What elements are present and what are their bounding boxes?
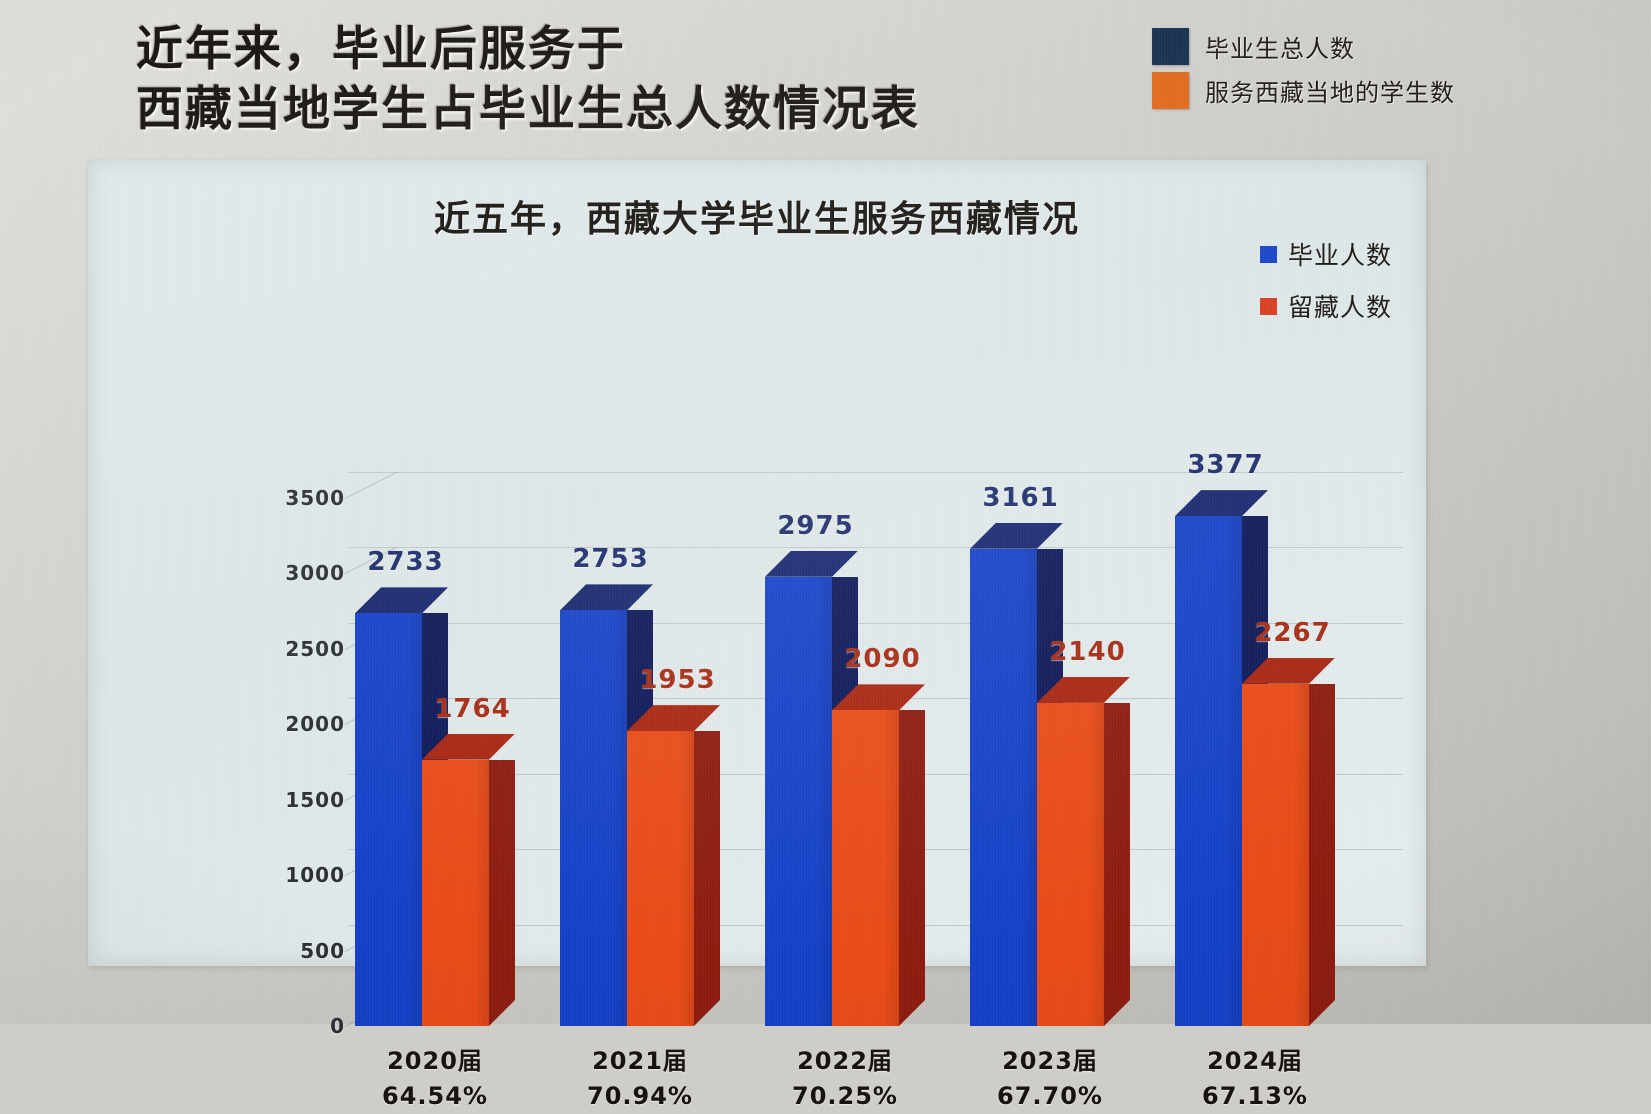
bar-value-label: 2140 xyxy=(1041,637,1134,667)
bar-side-face xyxy=(694,731,720,1026)
bar-front-face xyxy=(832,710,899,1026)
legend-label: 毕业生总人数 xyxy=(1205,29,1355,64)
bar-front-face xyxy=(970,549,1037,1026)
bar-value-label: 2267 xyxy=(1246,618,1339,648)
legend-swatch-navy xyxy=(1152,28,1189,65)
bar-stayed[interactable] xyxy=(422,760,489,1026)
bar-front-face xyxy=(765,577,832,1026)
bar-graduates[interactable] xyxy=(1175,516,1242,1026)
chart-legend-label: 毕业人数 xyxy=(1288,236,1392,272)
chart-title: 近五年，西藏大学毕业生服务西藏情况 xyxy=(88,190,1426,242)
bar-top-face xyxy=(970,523,1063,549)
bar-value-label: 3377 xyxy=(1179,450,1272,480)
x-axis-category-label: 2023届 67.70% xyxy=(942,1044,1158,1114)
y-axis-tick-label: 500 xyxy=(195,939,345,963)
bar-top-face xyxy=(765,551,858,577)
bar-graduates[interactable] xyxy=(560,610,627,1026)
bar-side-face xyxy=(1104,703,1130,1026)
bar-stayed[interactable] xyxy=(1242,684,1309,1026)
bar-stayed[interactable] xyxy=(627,731,694,1026)
bar-graduates[interactable] xyxy=(970,549,1037,1026)
bar-side-face xyxy=(1309,684,1335,1026)
bar-front-face xyxy=(422,760,489,1026)
bar-top-face xyxy=(560,584,653,610)
legend-label: 服务西藏当地的学生数 xyxy=(1205,73,1455,108)
bar-front-face xyxy=(1175,516,1242,1026)
chart-legend-item: 留藏人数 xyxy=(1260,280,1392,332)
chart-legend: 毕业人数 留藏人数 xyxy=(1260,228,1392,332)
plot-area: 0500100015002000250030003500273317642020… xyxy=(293,422,1403,1026)
y-axis-tick-label: 2000 xyxy=(195,712,345,736)
bar-top-face xyxy=(355,587,448,613)
x-axis-category-label: 2022届 70.25% xyxy=(737,1044,953,1114)
bar-top-face xyxy=(1175,490,1268,516)
chart-legend-item: 毕业人数 xyxy=(1260,228,1392,280)
y-axis-tick-label: 0 xyxy=(195,1014,345,1038)
bar-value-label: 1953 xyxy=(631,665,724,695)
legend-item: 服务西藏当地的学生数 xyxy=(1152,68,1455,112)
bar-value-label: 2975 xyxy=(769,511,862,541)
bar-value-label: 3161 xyxy=(974,483,1067,513)
chart-legend-label: 留藏人数 xyxy=(1288,288,1392,324)
bar-value-label: 2090 xyxy=(836,644,929,674)
bar-value-label: 1764 xyxy=(426,694,519,724)
x-axis-category-label: 2024届 67.13% xyxy=(1147,1044,1363,1114)
x-axis-category-label: 2021届 70.94% xyxy=(532,1044,748,1114)
y-axis-tick-label: 1500 xyxy=(195,788,345,812)
legend-marker-graduates xyxy=(1260,246,1277,263)
bar-value-label: 2733 xyxy=(359,547,452,577)
presentation-slide: 近年来，毕业后服务于 西藏当地学生占毕业生总人数情况表 毕业生总人数 服务西藏当… xyxy=(0,0,1651,1024)
bar-front-face xyxy=(355,613,422,1026)
y-axis-tick-label: 2500 xyxy=(195,637,345,661)
bar-stayed[interactable] xyxy=(1037,703,1104,1026)
bar-side-face xyxy=(899,710,925,1026)
chart-panel: 近五年，西藏大学毕业生服务西藏情况 毕业人数 留藏人数 050010001500… xyxy=(88,160,1426,966)
legend-swatch-orange xyxy=(1152,72,1189,109)
y-axis-tick-label: 3000 xyxy=(195,561,345,585)
bar-front-face xyxy=(560,610,627,1026)
bar-side-face xyxy=(489,760,515,1026)
bar-front-face xyxy=(1037,703,1104,1026)
bar-front-face xyxy=(1242,684,1309,1026)
bar-graduates[interactable] xyxy=(355,613,422,1026)
bar-graduates[interactable] xyxy=(765,577,832,1026)
slide-legend: 毕业生总人数 服务西藏当地的学生数 xyxy=(1152,24,1455,112)
y-axis-tick-label: 3500 xyxy=(195,486,345,510)
y-axis-tick-label: 1000 xyxy=(195,863,345,887)
x-axis-category-label: 2020届 64.54% xyxy=(327,1044,543,1114)
bar-front-face xyxy=(627,731,694,1026)
bar-stayed[interactable] xyxy=(832,710,899,1026)
legend-marker-stayed xyxy=(1260,298,1277,315)
axis-depth-guide xyxy=(345,471,397,498)
bar-value-label: 2753 xyxy=(564,544,657,574)
legend-item: 毕业生总人数 xyxy=(1152,24,1455,68)
slide-headline: 近年来，毕业后服务于 西藏当地学生占毕业生总人数情况表 xyxy=(136,20,1066,140)
